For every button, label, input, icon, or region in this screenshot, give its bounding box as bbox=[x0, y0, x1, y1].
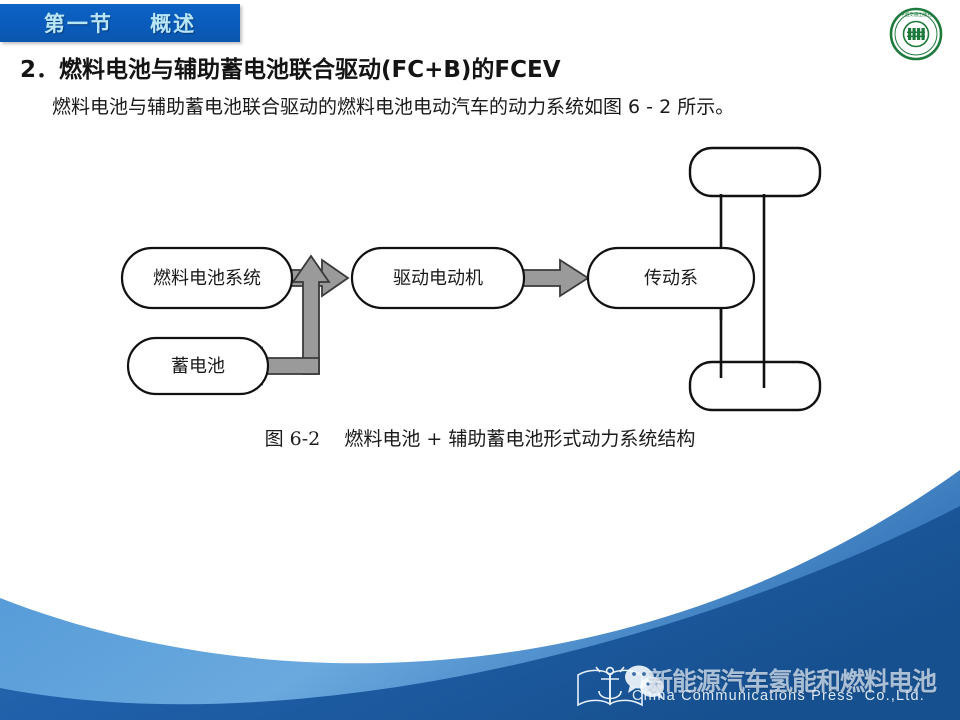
svg-text:中国交通出版社: 中国交通出版社 bbox=[900, 11, 933, 18]
slide-canvas: 第一节 概述 中国交通出版社 2．燃料电池与辅助蓄电池联合驱动(FC+B)的FC… bbox=[0, 0, 960, 720]
node-transmission-label: 传动系 bbox=[644, 268, 698, 289]
body-paragraph: 燃料电池与辅助蓄电池联合驱动的燃料电池电动汽车的动力系统如图 6 - 2 所示。 bbox=[52, 92, 734, 119]
wheel-bottom bbox=[690, 362, 820, 410]
green-circular-seal-icon: 中国交通出版社 bbox=[888, 6, 944, 62]
node-battery-label: 蓄电池 bbox=[171, 356, 225, 377]
wheel-top bbox=[690, 148, 820, 196]
node-drive-motor-label: 驱动电动机 bbox=[393, 268, 483, 289]
power-system-diagram: 燃料电池系统 驱动电动机 传动系 蓄电池 bbox=[0, 130, 960, 470]
arrow-battery-up-to-motor bbox=[293, 256, 329, 374]
watermark-label: 新能源汽车氢能和燃料电池 bbox=[648, 662, 936, 698]
page-title: 2．燃料电池与辅助蓄电池联合驱动(FC+B)的FCEV bbox=[20, 50, 561, 84]
node-fuel-cell-system-label: 燃料电池系统 bbox=[153, 268, 261, 289]
section-banner: 第一节 概述 bbox=[0, 4, 240, 42]
figure-caption: 图 6-2 燃料电池 + 辅助蓄电池形式动力系统结构 bbox=[0, 424, 960, 451]
arrow-motor-to-transmission bbox=[523, 260, 588, 296]
section-banner-label: 第一节 概述 bbox=[44, 8, 196, 38]
